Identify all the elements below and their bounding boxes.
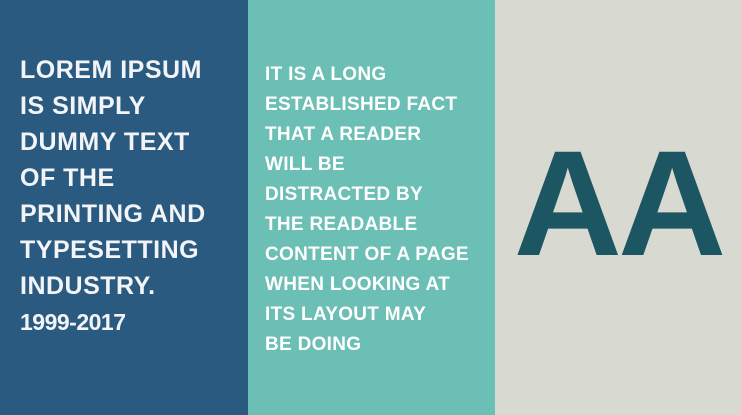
body-text-block: IT IS A LONG ESTABLISHED FACT THAT A REA… [265,60,489,360]
body-line-10: BE DOING [265,330,489,360]
body-line-8: WHEN LOOKING AT [265,270,489,300]
headline-text-block: LOREM IPSUM IS SIMPLY DUMMY TEXT OF THE … [20,52,242,340]
headline-year-range: 1999-2017 [20,304,242,340]
headline-line-6: TYPESETTING [20,232,242,268]
body-panel: IT IS A LONG ESTABLISHED FACT THAT A REA… [248,0,495,415]
headline-line-1: LOREM IPSUM [20,52,242,88]
body-line-5: DISTRACTED BY [265,180,489,210]
headline-line-5: PRINTING AND [20,196,242,232]
specimen-glyph-block: AA [495,128,741,278]
specimen-glyphs: AA [514,128,723,278]
headline-line-3: DUMMY TEXT [20,124,242,160]
specimen-panel: AA [495,0,741,415]
headline-line-7: INDUSTRY. [20,268,242,304]
body-line-1: IT IS A LONG [265,60,489,90]
headline-line-2: IS SIMPLY [20,88,242,124]
body-line-3: THAT A READER [265,120,489,150]
body-line-9: ITS LAYOUT MAY [265,300,489,330]
headline-panel: LOREM IPSUM IS SIMPLY DUMMY TEXT OF THE … [0,0,248,415]
headline-line-4: OF THE [20,160,242,196]
body-line-7: CONTENT OF A PAGE [265,240,489,270]
body-line-6: THE READABLE [265,210,489,240]
body-line-4: WILL BE [265,150,489,180]
poster-canvas: LOREM IPSUM IS SIMPLY DUMMY TEXT OF THE … [0,0,741,415]
body-line-2: ESTABLISHED FACT [265,90,489,120]
